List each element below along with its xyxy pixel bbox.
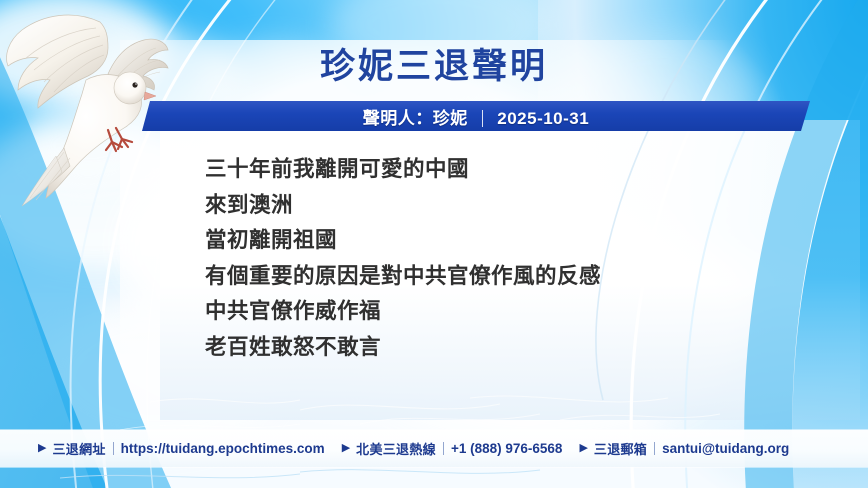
footer-label-website: 三退網址 xyxy=(52,439,105,458)
statement-line: 老百姓敢怒不敢言 xyxy=(205,330,725,366)
page-title: 珍妮三退聲明 xyxy=(0,49,868,84)
statement-card: 珍妮三退聲明 聲明人：珍妮 2025-10-31 三十年前我離開可愛的中國 來到… xyxy=(0,0,868,488)
triangle-marker-icon: ▶ xyxy=(342,443,350,454)
subtitle-text: 聲明人：珍妮 2025-10-31 xyxy=(363,104,589,129)
footer-bar: ▶ 三退網址 https://tuidang.epochtimes.com ▶ … xyxy=(0,430,868,467)
footer-value-hotline[interactable]: +1 (888) 976-6568 xyxy=(451,441,562,456)
statement-body: 三十年前我離開可愛的中國 來到澳洲 當初離開祖國 有個重要的原因是對中共官僚作風… xyxy=(205,152,725,365)
footer-label-hotline: 北美三退熱線 xyxy=(356,439,436,458)
footer-divider xyxy=(654,442,655,455)
statement-line: 三十年前我離開可愛的中國 xyxy=(205,152,725,188)
statement-line: 中共官僚作威作福 xyxy=(205,294,725,330)
triangle-marker-icon: ▶ xyxy=(38,443,46,454)
statement-line: 有個重要的原因是對中共官僚作風的反感 xyxy=(205,259,725,295)
subtitle-bar: 聲明人：珍妮 2025-10-31 xyxy=(142,101,810,131)
declarant-label: 聲明人：珍妮 xyxy=(363,109,468,128)
footer-value-email[interactable]: santui@tuidang.org xyxy=(662,441,789,456)
footer-divider xyxy=(113,442,114,455)
footer-item-hotline[interactable]: ▶ 北美三退熱線 +1 (888) 976-6568 xyxy=(342,439,563,458)
triangle-marker-icon: ▶ xyxy=(579,443,587,454)
subtitle-divider xyxy=(482,110,483,127)
footer-item-website[interactable]: ▶ 三退網址 https://tuidang.epochtimes.com xyxy=(38,439,325,458)
statement-line: 來到澳洲 xyxy=(205,188,725,224)
footer-label-email: 三退郵箱 xyxy=(594,439,647,458)
statement-line: 當初離開祖國 xyxy=(205,223,725,259)
footer-value-website[interactable]: https://tuidang.epochtimes.com xyxy=(121,441,325,456)
footer-divider xyxy=(443,442,444,455)
footer-item-email[interactable]: ▶ 三退郵箱 santui@tuidang.org xyxy=(579,439,789,458)
statement-date: 2025-10-31 xyxy=(497,109,589,128)
